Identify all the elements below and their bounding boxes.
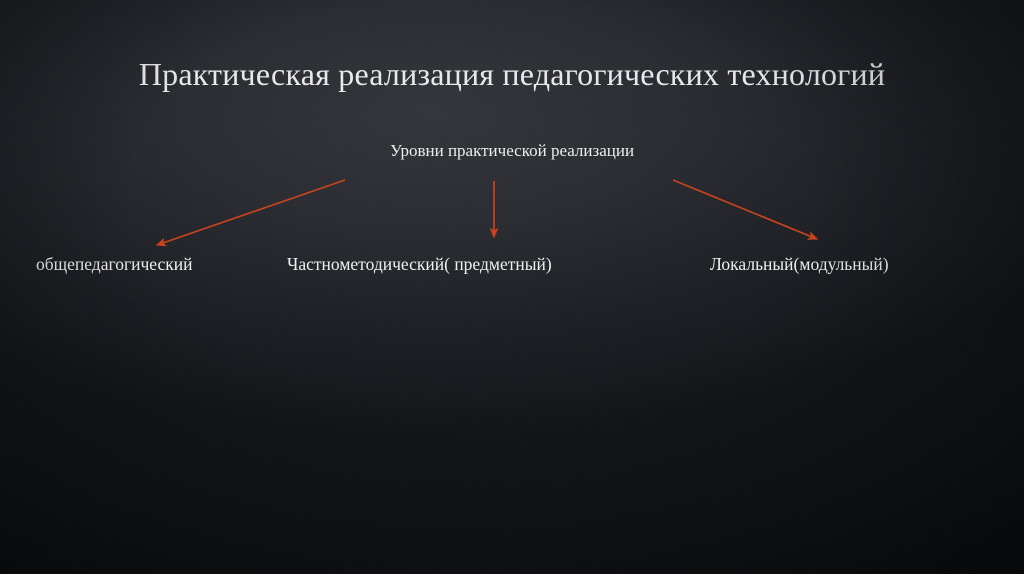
level-label-lokalnyy: Локальный(модульный) xyxy=(710,254,889,275)
level-label-obshchepedagogicheskiy: общепедагогический xyxy=(36,254,193,275)
presentation-slide: Практическая реализация педагогических т… xyxy=(0,0,1024,574)
level-label-chastnometodicheskiy: Частнометодический( предметный) xyxy=(287,254,552,275)
diagram-heading: Уровни практической реализации xyxy=(0,141,1024,161)
arrow-to-obshchepedagogicheskiy xyxy=(157,180,345,245)
page-title: Практическая реализация педагогических т… xyxy=(96,53,928,96)
arrow-to-lokalnyy xyxy=(673,180,817,239)
